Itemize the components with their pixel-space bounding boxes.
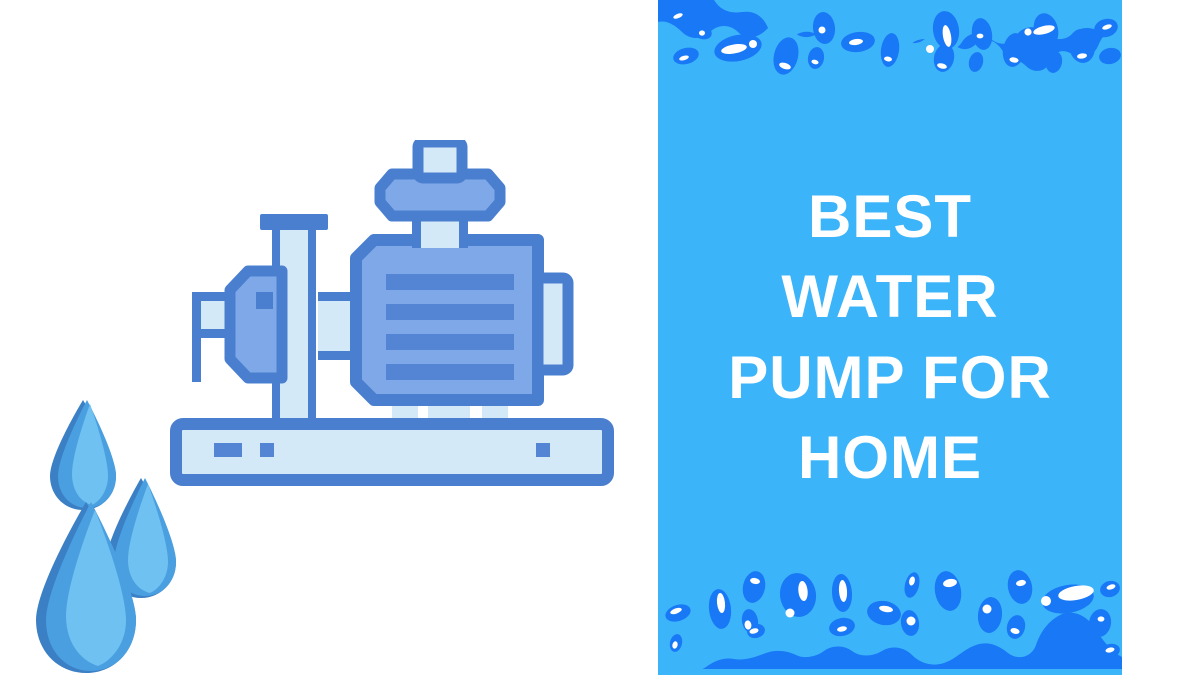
water-pump-icon — [170, 140, 620, 500]
water-splash-top-decoration — [658, 0, 1122, 95]
title-panel: BEST WATER PUMP FOR HOME — [658, 0, 1122, 675]
title-line-4: HOME — [798, 418, 982, 498]
title-line-2: WATER — [781, 257, 998, 337]
water-droplets-icon — [28, 392, 208, 677]
poster-canvas: BEST WATER PUMP FOR HOME — [0, 0, 1200, 675]
title-line-3: PUMP FOR — [728, 338, 1052, 418]
title-line-1: BEST — [808, 177, 972, 257]
illustration-area — [0, 0, 658, 675]
water-splash-bottom-decoration — [658, 565, 1122, 675]
